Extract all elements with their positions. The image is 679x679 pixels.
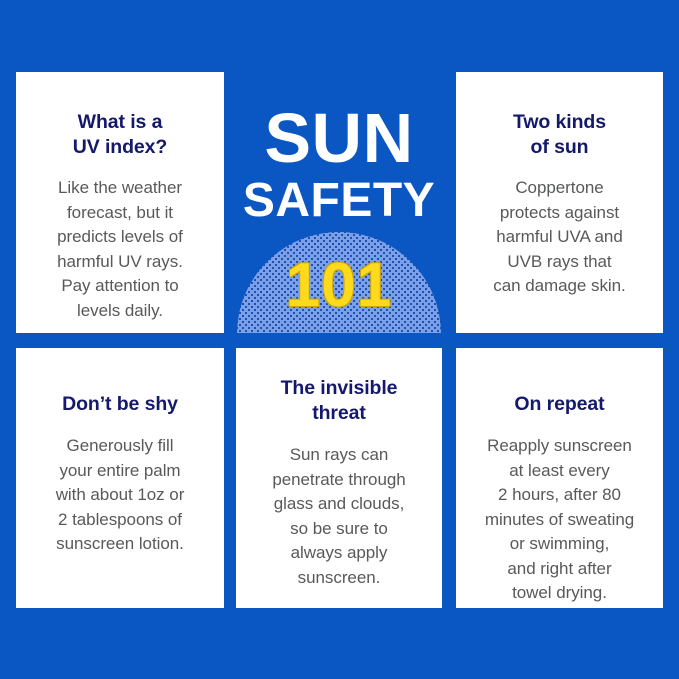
card-invisible-threat: The invisiblethreat Sun rays canpenetrat… — [236, 348, 442, 608]
card-two-kinds-body-line-4: UVB rays that — [507, 252, 611, 271]
card-two-kinds-of-sun: Two kindsof sun Coppertoneprotects again… — [456, 72, 663, 333]
card-invisible-threat-body-line-5: always apply — [291, 543, 388, 562]
card-on-repeat-body-line-7: towel drying. — [512, 583, 607, 602]
card-uv-index-body-line-3: predicts levels of — [57, 227, 183, 246]
card-invisible-threat-title-line-2: threat — [312, 402, 366, 424]
card-two-kinds-title: Two kindsof sun — [513, 110, 606, 160]
card-uv-index-title-line-2: UV index? — [73, 136, 167, 158]
card-on-repeat-title: On repeat — [514, 392, 604, 417]
card-uv-index-body: Like the weatherforecast, but itpredicts… — [57, 176, 183, 323]
card-two-kinds-body: Coppertoneprotects againstharmful UVA an… — [493, 176, 625, 299]
card-invisible-threat-body-line-2: penetrate through — [272, 470, 405, 489]
card-uv-index-body-line-6: levels daily. — [77, 301, 163, 320]
card-dont-be-shy: Don’t be shy Generously fillyour entire … — [16, 348, 224, 608]
sun-safety-infographic: What is aUV index? Like the weatherforec… — [0, 0, 679, 679]
logo-number-101: 101 — [226, 255, 452, 317]
card-dont-be-shy-body-line-3: with about 1oz or — [56, 485, 185, 504]
card-two-kinds-body-line-1: Coppertone — [515, 178, 603, 197]
card-invisible-threat-body-line-6: sunscreen. — [298, 568, 381, 587]
card-two-kinds-title-line-2: of sun — [531, 136, 589, 158]
card-uv-index-title-line-1: What is a — [78, 111, 163, 133]
card-invisible-threat-title-line-1: The invisible — [281, 377, 398, 399]
card-two-kinds-title-line-1: Two kinds — [513, 111, 606, 133]
sun-safety-101-logo: SUN SAFETY 101 — [226, 72, 452, 333]
card-uv-index-body-line-2: forecast, but it — [67, 203, 173, 222]
card-invisible-threat-body-line-1: Sun rays can — [290, 445, 389, 464]
card-uv-index-title: What is aUV index? — [73, 110, 167, 160]
card-invisible-threat-body-line-4: so be sure to — [290, 519, 388, 538]
card-two-kinds-body-line-3: harmful UVA and — [496, 227, 623, 246]
card-invisible-threat-body-line-3: glass and clouds, — [274, 494, 405, 513]
card-on-repeat-body-line-4: minutes of sweating — [485, 510, 634, 529]
card-uv-index-body-line-1: Like the weather — [58, 178, 182, 197]
card-on-repeat-body-line-6: and right after — [507, 559, 611, 578]
card-invisible-threat-title: The invisiblethreat — [281, 376, 398, 426]
card-on-repeat-body: Reapply sunscreenat least every2 hours, … — [485, 434, 634, 606]
card-on-repeat-body-line-2: at least every — [509, 461, 609, 480]
card-on-repeat-body-line-3: 2 hours, after 80 — [498, 485, 621, 504]
logo-word-sun: SUN — [226, 103, 452, 173]
card-dont-be-shy-body-line-5: sunscreen lotion. — [56, 534, 184, 553]
card-two-kinds-body-line-2: protects against — [500, 203, 619, 222]
card-dont-be-shy-body-line-4: 2 tablespoons of — [58, 510, 182, 529]
card-dont-be-shy-body: Generously fillyour entire palmwith abou… — [56, 434, 185, 557]
logo-word-safety: SAFETY — [226, 176, 452, 226]
card-dont-be-shy-body-line-1: Generously fill — [67, 436, 174, 455]
card-dont-be-shy-body-line-2: your entire palm — [59, 461, 180, 480]
card-dont-be-shy-title: Don’t be shy — [62, 392, 178, 417]
card-uv-index-body-line-5: Pay attention to — [61, 276, 178, 295]
card-two-kinds-body-line-5: can damage skin. — [493, 276, 625, 295]
card-on-repeat: On repeat Reapply sunscreenat least ever… — [456, 348, 663, 608]
card-on-repeat-body-line-1: Reapply sunscreen — [487, 436, 632, 455]
card-uv-index: What is aUV index? Like the weatherforec… — [16, 72, 224, 333]
card-on-repeat-body-line-5: or swimming, — [510, 534, 610, 553]
card-invisible-threat-body: Sun rays canpenetrate throughglass and c… — [272, 443, 405, 590]
card-uv-index-body-line-4: harmful UV rays. — [57, 252, 183, 271]
